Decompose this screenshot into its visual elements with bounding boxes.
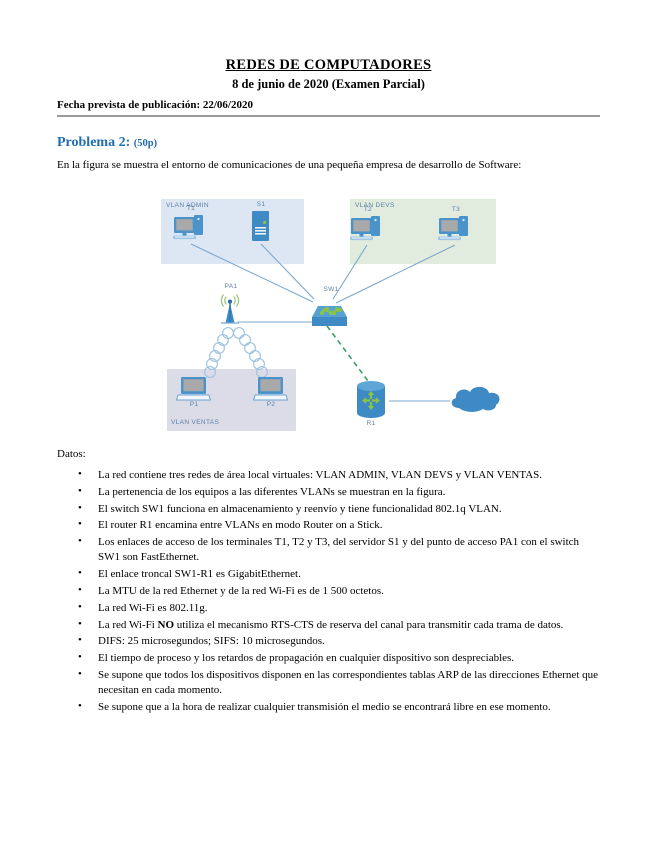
list-item: DIFS: 25 microsegundos; SIFS: 10 microse… [57,634,598,649]
list-item: La red Wi-Fi es 802.11g. [57,601,598,616]
node-pa1: PA1 [214,292,246,332]
document-header: REDES DE COMPUTADORES 8 de junio de 2020… [57,57,600,117]
node-p2-label: P2 [262,401,280,408]
list-item: Se supone que todos los dispositivos dis… [57,668,598,699]
problem-heading-text: Problema 2: [57,135,130,150]
list-item: La MTU de la red Ethernet y de la red Wi… [57,584,598,599]
node-t3: T3 [437,214,475,247]
link-t1-sw1 [191,244,313,302]
datos-list: La red contiene tres redes de área local… [57,468,602,715]
node-pa1-label: PA1 [220,283,242,290]
exam-date-subtitle: 8 de junio de 2020 (Examen Parcial) [57,76,600,93]
document-page: REDES DE COMPUTADORES 8 de junio de 2020… [0,0,655,848]
problem-heading: Problema 2: (50p) [57,134,600,152]
node-r1: R1 [353,379,389,421]
list-item: El tiempo de proceso y los retardos de p… [57,651,598,666]
node-p1-label: P1 [185,401,203,408]
node-t2: T2 [349,214,387,247]
node-r1-label: R1 [361,420,381,427]
node-t3-label: T3 [446,206,466,213]
list-item: Los enlaces de acceso de los terminales … [57,535,598,566]
publication-date-line: Fecha prevista de publicación: 22/06/202… [57,98,600,113]
node-sw1-label: SW1 [319,286,343,293]
node-p1: P1 [177,376,211,404]
list-item: El enlace troncal SW1-R1 es GigabitEther… [57,567,598,582]
node-t1: T1 [172,213,210,246]
list-item: El router R1 encamina entre VLANs en mod… [57,518,598,533]
node-p2: P2 [254,376,288,404]
list-item-wifi-rts-cts: La red Wi-Fi NO utiliza el mecanismo RTS… [57,618,598,633]
header-divider [57,115,600,117]
problem-points: (50p) [134,138,157,149]
datos-section: Datos: La red contiene tres redes de áre… [57,447,602,717]
problem-section: Problema 2: (50p) En la figura se muestr… [57,134,600,174]
emphasis-no: NO [158,619,175,631]
page-title: REDES DE COMPUTADORES [57,57,600,74]
network-diagram-figure: VLAN ADMIN VLAN DEVS VLAN VENTAS [150,185,512,441]
list-item: La pertenencia de los equipos a las dife… [57,485,598,500]
link-p2-pa1-wireless [234,328,268,378]
node-s1-label: S1 [250,201,272,208]
link-t3-sw1 [336,245,455,303]
node-t2-label: T2 [358,206,378,213]
link-sw1-r1-trunk [327,326,368,381]
list-item: La red contiene tres redes de área local… [57,468,598,483]
datos-heading: Datos: [57,447,602,462]
node-internet-cloud [446,381,506,421]
node-s1: S1 [249,209,273,246]
problem-intro-text: En la figura se muestra el entorno de co… [57,158,577,174]
node-t1-label: T1 [181,205,201,212]
link-p1-pa1-wireless [205,328,234,378]
node-sw1: SW1 [310,293,348,331]
list-item: El switch SW1 funciona en almacenamiento… [57,502,598,517]
link-s1-sw1 [261,244,314,299]
list-item: Se supone que a la hora de realizar cual… [57,700,598,715]
